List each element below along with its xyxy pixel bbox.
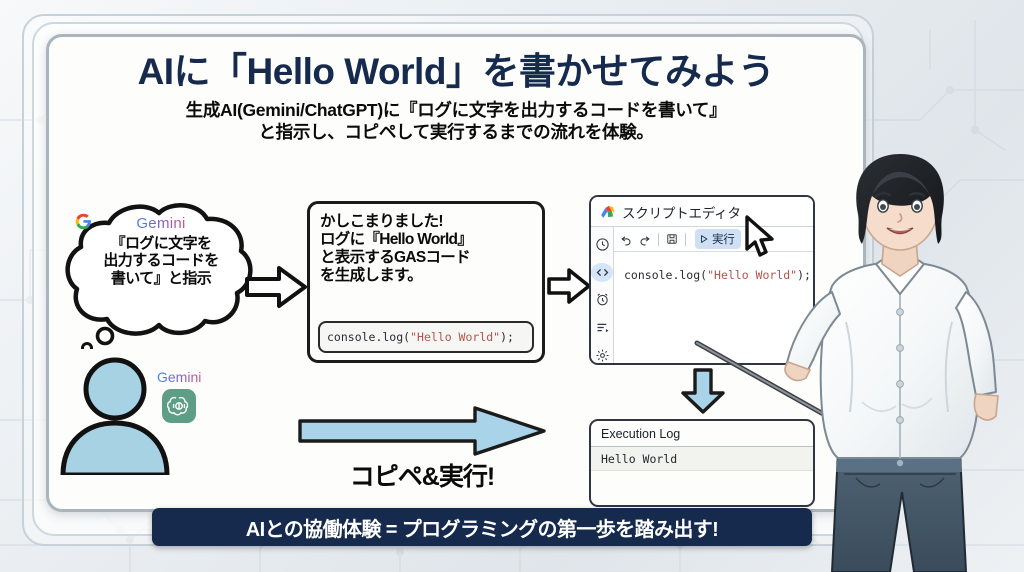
- history-clock-icon[interactable]: [591, 235, 613, 254]
- run-button-label: 実行: [712, 231, 734, 247]
- apps-script-icon: [599, 203, 616, 220]
- copy-run-label: コピペ&実行!: [297, 457, 547, 493]
- toolbar-separator-2: [685, 233, 686, 246]
- gemini-label: Gemini: [157, 369, 201, 385]
- code-brackets-icon[interactable]: [591, 263, 613, 282]
- editor-code-prefix: console.log(: [624, 268, 707, 282]
- arrow-editor-to-log-icon: [679, 367, 727, 415]
- execution-log-panel: Execution Log Hello World: [589, 419, 815, 507]
- triggers-alarm-icon[interactable]: [591, 291, 613, 310]
- undo-icon[interactable]: [620, 233, 633, 246]
- reply-code-suffix: );: [500, 330, 514, 344]
- run-button[interactable]: 実行: [695, 229, 741, 249]
- execution-log-output: Hello World: [601, 452, 677, 466]
- thought-bubble-line-2: 出力するコードを: [75, 252, 247, 269]
- copy-and-run-step: コピペ&実行!: [297, 405, 547, 501]
- thought-bubble-line-1: 『ログに文字を: [75, 235, 247, 252]
- openai-logo-icon: [162, 389, 196, 423]
- thought-bubble-line-3: 書いて』と指示: [75, 270, 247, 287]
- subtitle-line-1: 生成AI(Gemini/ChatGPT)に『ログに文字を出力するコードを書いて』: [65, 99, 847, 121]
- ai-brand-logos: Gemini: [157, 369, 201, 423]
- copy-run-right-arrow-icon: [297, 405, 547, 457]
- mouse-pointer-icon: [743, 215, 777, 259]
- reply-line-1: かしこまりました!: [320, 213, 532, 231]
- editor-titlebar: スクリプトエディタ: [591, 197, 813, 227]
- settings-gear-icon[interactable]: [591, 346, 613, 365]
- bottom-banner-text: AIとの協働体験 = プログラミングの第一歩を踏み出す!: [246, 513, 718, 542]
- header-section: AIに「Hello World」を書かせてみよう 生成AI(Gemini/Cha…: [49, 37, 863, 148]
- ai-reply-box: かしこまりました! ログに『Hello World』 と表示するGASコード を…: [307, 201, 545, 363]
- main-slide-card: AIに「Hello World」を書かせてみよう 生成AI(Gemini/Cha…: [46, 34, 866, 512]
- reply-line-2: ログに『Hello World』: [320, 231, 532, 249]
- thought-bubble: Gemini 『ログに文字を 出力するコードを 書いて』と指示: [61, 199, 261, 349]
- reply-line-3: と表示するGASコード: [320, 249, 532, 267]
- reply-line-4: を生成します。: [320, 267, 532, 285]
- reply-code-snippet[interactable]: console.log("Hello World");: [318, 321, 534, 353]
- thought-bubble-content: Gemini 『ログに文字を 出力するコードを 書いて』と指示: [75, 213, 247, 287]
- gemini-brand-row: Gemini: [75, 213, 247, 233]
- bottom-banner: AIとの協働体験 = プログラミングの第一歩を踏み出す!: [152, 508, 812, 546]
- editor-sidebar-rail: [591, 227, 614, 365]
- save-icon[interactable]: [666, 233, 678, 245]
- execution-log-title: Execution Log: [591, 421, 813, 447]
- page-title: AIに「Hello World」を書かせてみよう: [65, 53, 847, 92]
- subtitle-line-2: と指示し、コピペして実行するまでの流れを体験。: [65, 121, 847, 143]
- toolbar-separator-1: [658, 233, 659, 246]
- google-g-icon: [75, 213, 92, 230]
- reply-code-prefix: console.log(: [327, 330, 410, 344]
- subtitle-block: 生成AI(Gemini/ChatGPT)に『ログに文字を出力するコードを書いて』…: [65, 99, 847, 144]
- play-triangle-icon: [699, 234, 709, 244]
- arrow-reply-to-editor-icon: [547, 267, 591, 305]
- arrow-bubble-to-reply-icon: [245, 265, 307, 309]
- editor-title: スクリプトエディタ: [622, 202, 741, 222]
- diagram-stage: Gemini 『ログに文字を 出力するコードを 書いて』と指示 Ge: [49, 187, 866, 512]
- execution-log-row: Hello World: [591, 447, 813, 471]
- redo-icon[interactable]: [638, 233, 651, 246]
- executions-list-icon[interactable]: [591, 318, 613, 337]
- presenter-woman-illustration: [784, 152, 1024, 572]
- gemini-brand-label: Gemini: [136, 215, 185, 232]
- reply-code-string: "Hello World": [410, 330, 500, 344]
